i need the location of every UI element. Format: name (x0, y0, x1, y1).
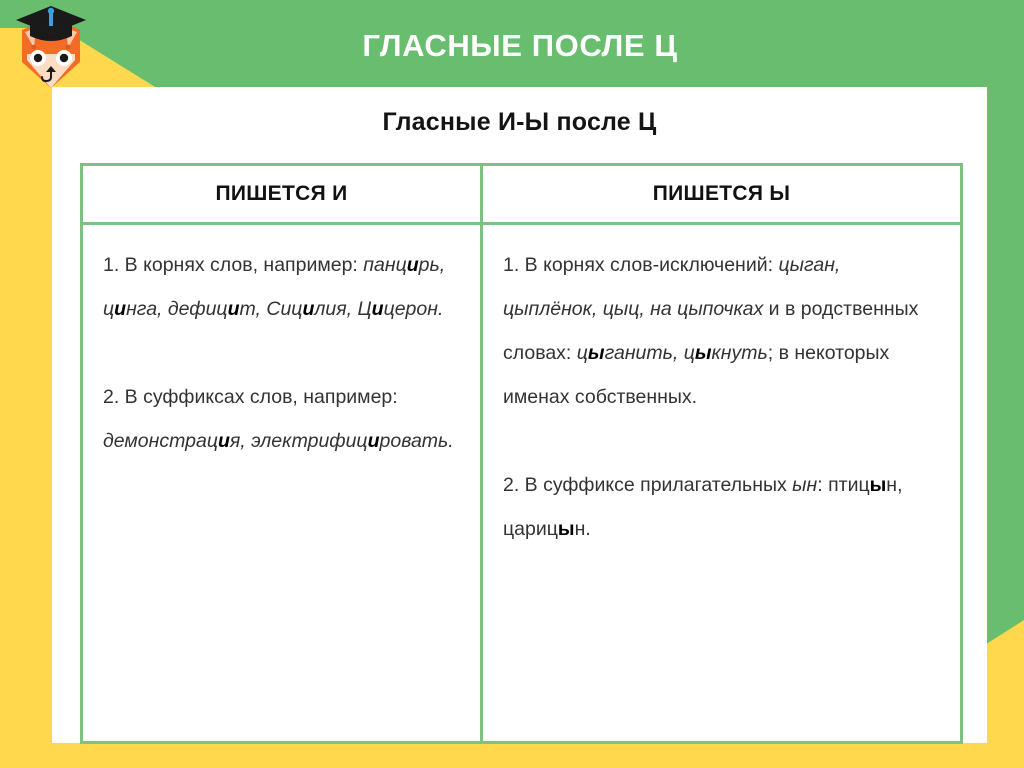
page-title: ГЛАСНЫЕ ПОСЛЕ Ц (120, 27, 920, 65)
card-subtitle: Гласные И-Ы после Ц (52, 87, 987, 137)
cell-pishetsya-y: 1. В корнях слов-исключений: цыган, цыпл… (482, 224, 962, 743)
column-header-y: ПИШЕТСЯ Ы (482, 165, 962, 224)
table-header-row: ПИШЕТСЯ И ПИШЕТСЯ Ы (82, 165, 962, 224)
rules-table: ПИШЕТСЯ И ПИШЕТСЯ Ы 1. В корнях слов, на… (80, 163, 963, 744)
rule-y-2: 2. В суффиксе прилагательных ын: птицын,… (503, 463, 940, 551)
rule-y-1-examples2: цыганить, цыкнуть (577, 342, 768, 364)
rule-y-2-suffix: ын (792, 474, 817, 496)
rule-i-2-examples: демонстрация, электрифицировать. (103, 430, 454, 452)
rule-i-2-lead: 2. В суффиксах слов, например: (103, 386, 398, 408)
column-header-i: ПИШЕТСЯ И (82, 165, 482, 224)
table-row: 1. В корнях слов, например: панцирь, цин… (82, 224, 962, 743)
rule-y-1-lead: 1. В корнях слов-исключений: (503, 254, 778, 276)
rule-i-1: 1. В корнях слов, например: панцирь, цин… (103, 243, 460, 331)
content-card: Гласные И-Ы после Ц ПИШЕТСЯ И ПИШЕТСЯ Ы … (52, 87, 987, 743)
rule-y-2-lead: 2. В суффиксе прилагательных (503, 474, 792, 496)
rule-y-1: 1. В корнях слов-исключений: цыган, цыпл… (503, 243, 940, 419)
slide-canvas: ГЛАСНЫЕ ПОСЛЕ Ц Гласные И-Ы после Ц ПИШЕ… (0, 0, 1024, 768)
cell-pishetsya-i: 1. В корнях слов, например: панцирь, цин… (82, 224, 482, 743)
fox-graduate-icon (12, 4, 90, 90)
rule-i-1-lead: 1. В корнях слов, например: (103, 254, 363, 276)
rule-i-2: 2. В суффиксах слов, например: демонстра… (103, 375, 460, 463)
